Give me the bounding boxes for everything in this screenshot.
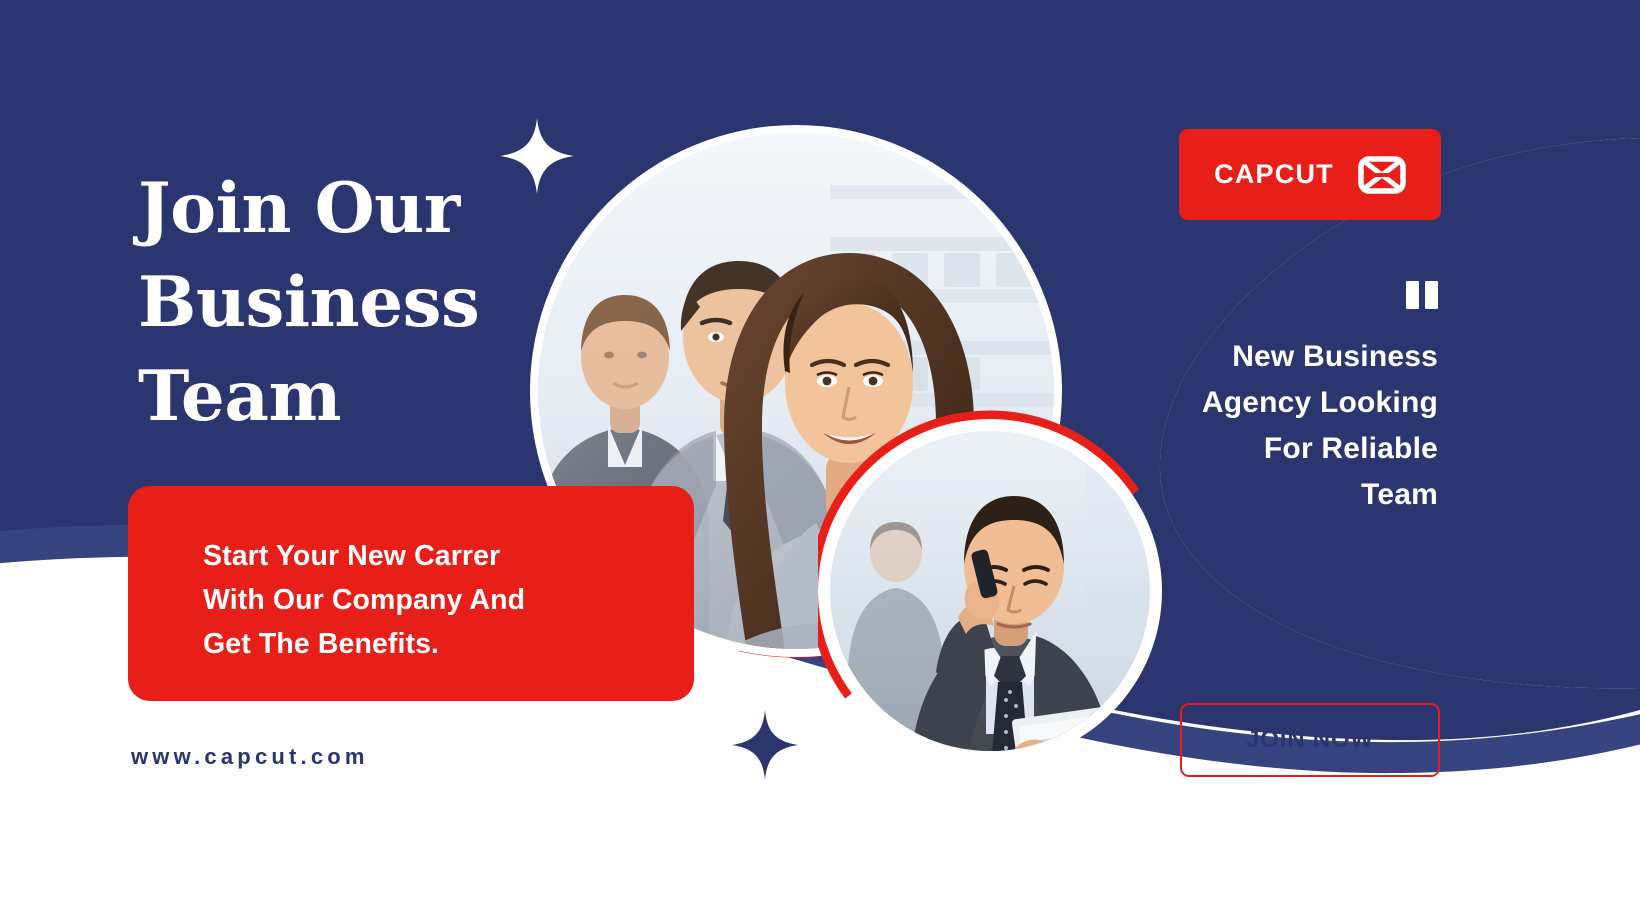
headline-line-2: Business	[138, 256, 558, 350]
quote-line-2: Agency Looking	[1108, 380, 1438, 426]
website-url[interactable]: www.capcut.com	[131, 744, 369, 770]
callout-text: Start Your New Carrer With Our Company A…	[203, 534, 653, 666]
callout-line-3: Get The Benefits.	[203, 622, 653, 666]
join-now-label: JOIN NOW	[1246, 726, 1374, 754]
capcut-wordmark: CAPCUT	[1214, 159, 1334, 190]
headline-line-1: Join Our	[138, 162, 558, 256]
capcut-logo-badge[interactable]: CAPCUT	[1179, 129, 1441, 220]
quote-line-4: Team	[1108, 472, 1438, 518]
sparkle-star-navy-icon	[732, 710, 798, 780]
page-title: Join Our Business Team	[138, 162, 558, 444]
headline-line-3: Team	[138, 350, 558, 444]
quote-text: New Business Agency Looking For Reliable…	[1108, 334, 1438, 518]
callout-card: Start Your New Carrer With Our Company A…	[128, 486, 694, 701]
quote-line-1: New Business	[1108, 334, 1438, 380]
callout-line-1: Start Your New Carrer	[203, 534, 653, 578]
quote-line-3: For Reliable	[1108, 426, 1438, 472]
capcut-logo-icon	[1358, 153, 1406, 197]
callout-line-2: With Our Company And	[203, 578, 653, 622]
quotation-mark-icon	[1406, 281, 1442, 311]
recruitment-banner: Join Our Business Team	[0, 0, 1640, 924]
join-now-button[interactable]: JOIN NOW	[1180, 703, 1440, 777]
